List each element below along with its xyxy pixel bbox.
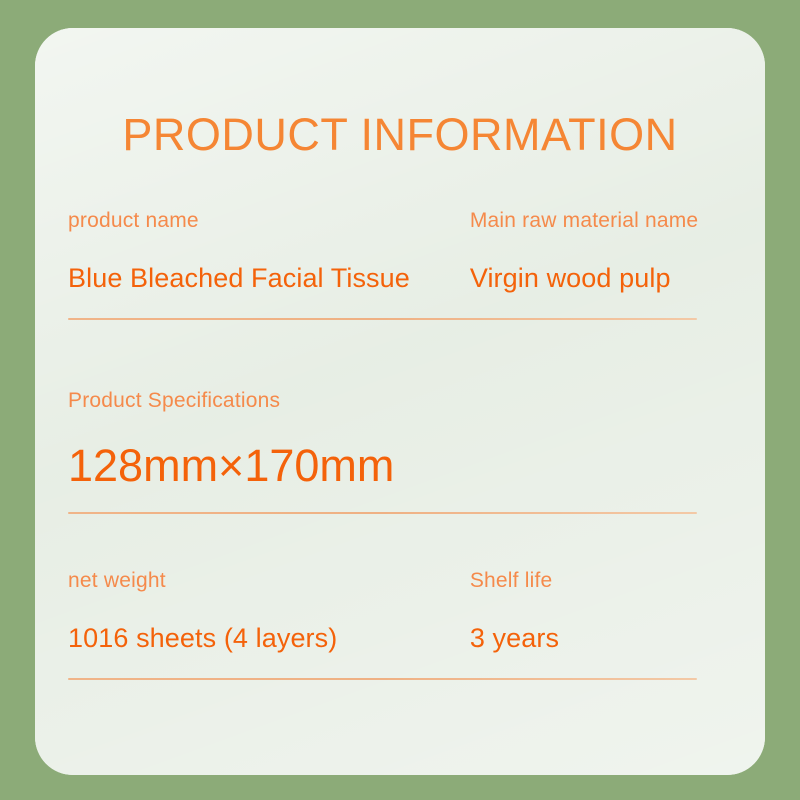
field-product-specifications: Product Specifications 128mm×170mm — [68, 390, 739, 488]
info-section-product: product name Blue Bleached Facial Tissue… — [68, 210, 739, 320]
field-value: Blue Bleached Facial Tissue — [68, 265, 470, 292]
field-net-weight: net weight 1016 sheets (4 layers) — [68, 570, 470, 652]
section-divider — [68, 678, 697, 680]
information-card: PRODUCT INFORMATION product name Blue Bl… — [35, 28, 765, 775]
field-shelf-life: Shelf life 3 years — [470, 570, 739, 652]
info-section-specifications: Product Specifications 128mm×170mm — [68, 390, 739, 514]
field-row: net weight 1016 sheets (4 layers) Shelf … — [68, 570, 739, 652]
field-label: Main raw material name — [470, 210, 739, 231]
field-row: Product Specifications 128mm×170mm — [68, 390, 739, 488]
field-value: 128mm×170mm — [68, 443, 739, 488]
field-main-raw-material-name: Main raw material name Virgin wood pulp — [470, 210, 739, 292]
info-section-weight-shelf: net weight 1016 sheets (4 layers) Shelf … — [68, 570, 739, 680]
card-content: PRODUCT INFORMATION product name Blue Bl… — [35, 28, 765, 775]
field-label: product name — [68, 210, 470, 231]
field-label: net weight — [68, 570, 470, 591]
field-label: Shelf life — [470, 570, 739, 591]
section-divider — [68, 512, 697, 514]
product-information-poster: PRODUCT INFORMATION product name Blue Bl… — [0, 0, 800, 800]
field-product-name: product name Blue Bleached Facial Tissue — [68, 210, 470, 292]
field-value: Virgin wood pulp — [470, 265, 739, 292]
page-title: PRODUCT INFORMATION — [35, 112, 765, 157]
field-value: 1016 sheets (4 layers) — [68, 625, 470, 652]
section-divider — [68, 318, 697, 320]
field-label: Product Specifications — [68, 390, 739, 411]
field-value: 3 years — [470, 625, 739, 652]
field-row: product name Blue Bleached Facial Tissue… — [68, 210, 739, 292]
